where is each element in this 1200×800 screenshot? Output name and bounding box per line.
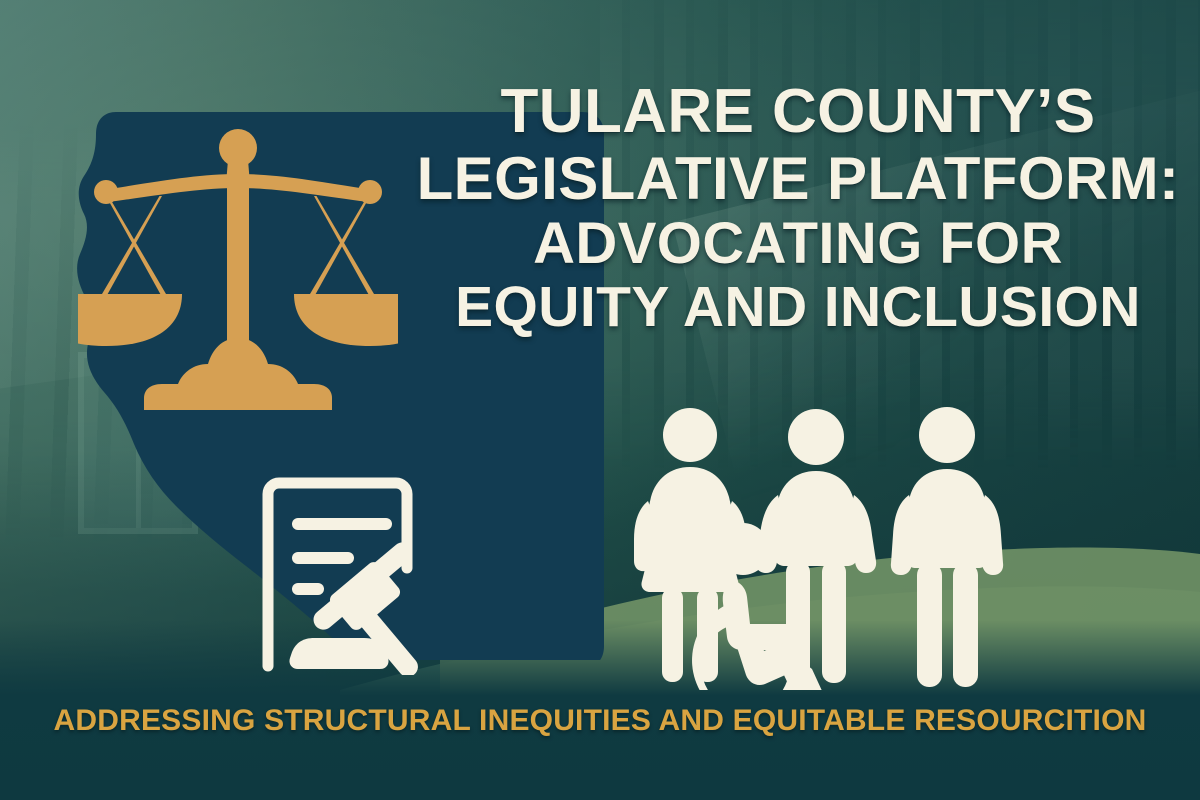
scales-of-justice-icon [78,126,398,426]
headline-line-2: LEGISLATIVE PLATFORM: [410,146,1186,212]
banner-graphic: TULARE COUNTY’S LEGISLATIVE PLATFORM: AD… [0,0,1200,800]
person-man-icon [891,407,1003,687]
headline-line-3: ADVOCATING FOR [410,212,1186,276]
headline: TULARE COUNTY’S LEGISLATIVE PLATFORM: AD… [410,78,1186,339]
headline-line-1: TULARE COUNTY’S [410,78,1186,146]
subtitle: ADDRESSING STRUCTURAL INEQUITIES AND EQU… [0,704,1200,738]
document-gavel-icon [256,470,466,675]
people-group-icon [626,405,1016,690]
headline-line-4: EQUITY AND INCLUSION [410,276,1186,339]
